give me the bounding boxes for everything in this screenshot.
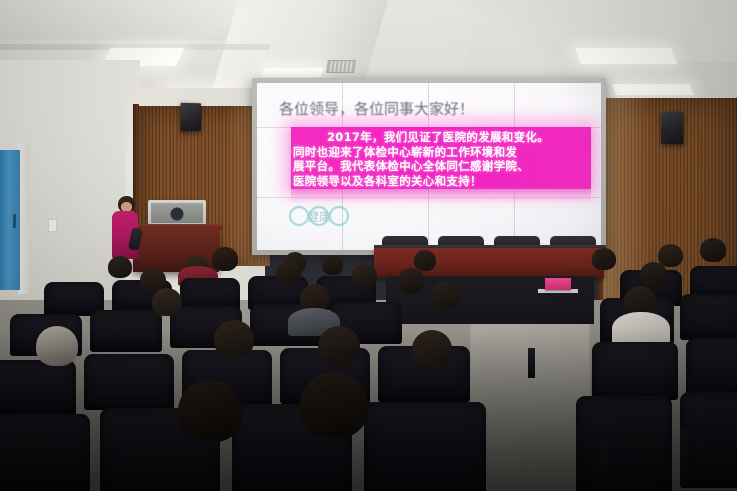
audience-head bbox=[276, 262, 301, 285]
slide-highlight-text: 2017年，我们见证了医院的发展和变化。 同时也迎来了体检中心崭新的工作环境和发… bbox=[293, 130, 587, 188]
auditorium-seat[interactable] bbox=[0, 360, 76, 416]
ceiling-air-vent-icon bbox=[326, 60, 356, 73]
door-handle-icon[interactable] bbox=[13, 214, 16, 228]
light-switch[interactable] bbox=[48, 219, 57, 232]
auditorium-seat[interactable] bbox=[0, 414, 90, 491]
slide-line-3: 展平台。我代表体检中心全体同仁感谢学院、 bbox=[293, 159, 587, 174]
audience-head bbox=[178, 380, 242, 442]
audience-head bbox=[212, 247, 238, 271]
audience-head bbox=[640, 262, 667, 287]
audience-head-grey-hair bbox=[36, 326, 78, 366]
ceiling-light-panel bbox=[260, 68, 324, 77]
ceiling-light-panel bbox=[612, 84, 694, 95]
entry-door[interactable] bbox=[0, 150, 20, 290]
auditorium-seat[interactable] bbox=[364, 402, 486, 491]
slide-highlight-box: 2017年，我们见证了医院的发展和变化。 同时也迎来了体检中心崭新的工作环境和发… bbox=[291, 127, 591, 189]
teal-watermark-logo-icon: 健康 bbox=[287, 201, 351, 231]
audience-head bbox=[398, 268, 424, 293]
projection-screen[interactable]: 各位领导，各位同事大家好！ 2017年，我们见证了医院的发展和变化。 同时也迎来… bbox=[257, 83, 601, 250]
audience-head bbox=[152, 288, 182, 316]
audience-head bbox=[412, 330, 452, 368]
audience-head bbox=[658, 244, 683, 267]
wall-speaker-icon bbox=[181, 103, 201, 132]
auditorium-seat[interactable] bbox=[84, 354, 174, 410]
auditorium-seat[interactable] bbox=[680, 392, 737, 488]
audience-head bbox=[318, 326, 360, 366]
seat-leg bbox=[600, 440, 607, 488]
audience-head bbox=[700, 238, 726, 262]
audience-head bbox=[108, 256, 132, 278]
audience-head bbox=[592, 248, 616, 270]
center-aisle bbox=[469, 303, 590, 491]
slide-line-2: 同时也迎来了体检中心崭新的工作环境和发 bbox=[293, 145, 587, 160]
audience-head bbox=[414, 250, 436, 271]
auditorium-seat[interactable] bbox=[592, 342, 678, 400]
auditorium-seat[interactable] bbox=[576, 396, 672, 491]
audience-head bbox=[214, 320, 254, 358]
slide-line-1: 2017年，我们见证了医院的发展和变化。 bbox=[293, 130, 587, 145]
audience-head bbox=[300, 372, 368, 438]
hp-logo-icon bbox=[171, 207, 184, 220]
seat-leg bbox=[680, 430, 687, 486]
conference-hall-scene: 各位领导，各位同事大家好！ 2017年，我们见证了医院的发展和变化。 同时也迎来… bbox=[0, 0, 737, 491]
wall-speaker-icon bbox=[661, 112, 683, 145]
auditorium-seat[interactable] bbox=[686, 338, 737, 396]
ceiling-light-panel bbox=[575, 48, 677, 64]
audience-head bbox=[352, 264, 377, 287]
projection-screen-frame: 各位领导，各位同事大家好！ 2017年，我们见证了医院的发展和变化。 同时也迎来… bbox=[252, 78, 606, 255]
pink-folder-on-table[interactable] bbox=[545, 278, 571, 290]
seat-leg bbox=[528, 348, 535, 378]
audience-head bbox=[430, 282, 460, 310]
auditorium-seat[interactable] bbox=[90, 310, 162, 352]
audience-shoulders bbox=[612, 312, 670, 346]
slide-heading: 各位领导，各位同事大家好！ bbox=[279, 101, 591, 118]
audience-head bbox=[322, 255, 343, 275]
auditorium-seat[interactable] bbox=[680, 294, 737, 340]
svg-text:健康: 健康 bbox=[307, 209, 331, 224]
